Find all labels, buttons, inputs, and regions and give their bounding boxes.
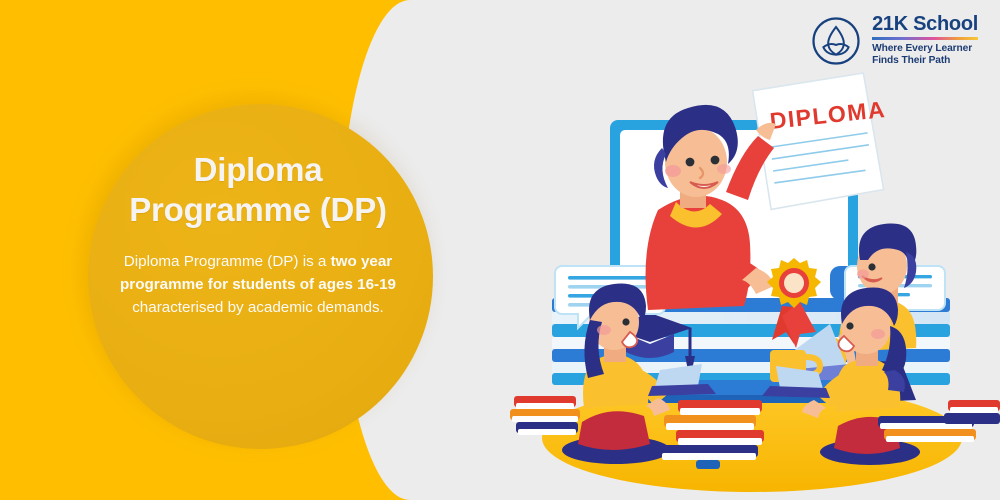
hero-text-block: Diploma Programme (DP) Diploma Programme… <box>96 150 420 319</box>
lotus-in-circle-icon <box>811 16 861 66</box>
diploma-certificate: DIPLOMA <box>752 71 895 210</box>
description-prefix: Diploma Programme (DP) is a <box>124 253 331 270</box>
logo-tagline-line-2: Finds Their Path <box>872 55 978 67</box>
book-stack-left <box>510 396 580 435</box>
hero-description: Diploma Programme (DP) is a two year pro… <box>96 250 420 319</box>
page-title: Diploma Programme (DP) <box>96 150 420 231</box>
logo-gradient-rule <box>872 37 978 40</box>
headline-line-2: Programme (DP) <box>96 190 420 230</box>
brand-logo[interactable]: 21K School Where Every Learner Finds The… <box>811 14 978 67</box>
online-graduation-illustration: DIPLOMA <box>500 70 1000 500</box>
logo-text-group: 21K School Where Every Learner Finds The… <box>872 14 978 67</box>
banner-canvas: Diploma Programme (DP) Diploma Programme… <box>0 0 1000 500</box>
book-stack-far-right <box>944 400 1000 424</box>
logo-tagline-line-1: Where Every Learner <box>872 43 978 55</box>
logo-title: 21K School <box>872 14 978 35</box>
description-suffix: characterised by academic demands. <box>132 299 384 316</box>
headline-line-1: Diploma <box>194 151 323 188</box>
